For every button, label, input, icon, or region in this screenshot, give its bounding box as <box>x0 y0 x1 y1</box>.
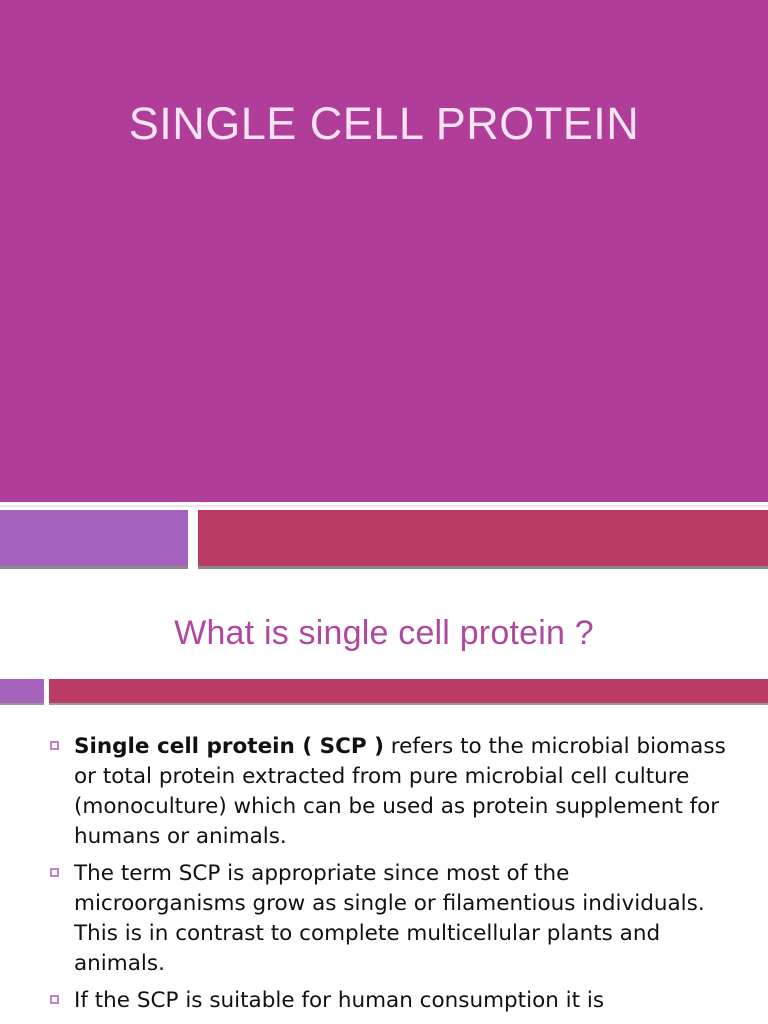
accent-bar-violet-small <box>0 679 44 703</box>
list-item-rest: The term SCP is appropriate since most o… <box>74 861 705 976</box>
list-item-text: The term SCP is appropriate since most o… <box>74 861 705 976</box>
list-item: If the SCP is suitable for human consump… <box>44 986 744 1016</box>
hollow-square-bullet-icon <box>50 741 59 750</box>
accent-bar-crimson-small <box>49 679 768 703</box>
slide-title-text: SINGLE CELL PROTEIN <box>0 98 768 150</box>
list-item: Single cell protein ( SCP ) refers to th… <box>44 732 744 852</box>
accent-band-thick <box>0 510 768 570</box>
accent-bar-violet-large <box>0 510 188 566</box>
list-item-rest: If the SCP is suitable for human consump… <box>74 988 604 1013</box>
title-slide: SINGLE CELL PROTEIN <box>0 0 768 502</box>
hollow-square-bullet-icon <box>50 868 59 877</box>
list-item-lead: Single cell protein ( SCP ) <box>74 734 384 759</box>
content-slide: What is single cell protein ? Single cel… <box>0 572 768 1024</box>
bullet-list: Single cell protein ( SCP ) refers to th… <box>44 732 744 1023</box>
slide-separator-line <box>0 505 768 507</box>
hollow-square-bullet-icon <box>50 995 59 1004</box>
list-item-text: If the SCP is suitable for human consump… <box>74 988 604 1013</box>
accent-band-thin <box>0 679 768 707</box>
list-item-text: Single cell protein ( SCP ) refers to th… <box>74 734 726 849</box>
content-slide-heading: What is single cell protein ? <box>0 614 768 653</box>
list-item: The term SCP is appropriate since most o… <box>44 859 744 979</box>
accent-bar-crimson-large <box>198 510 768 566</box>
